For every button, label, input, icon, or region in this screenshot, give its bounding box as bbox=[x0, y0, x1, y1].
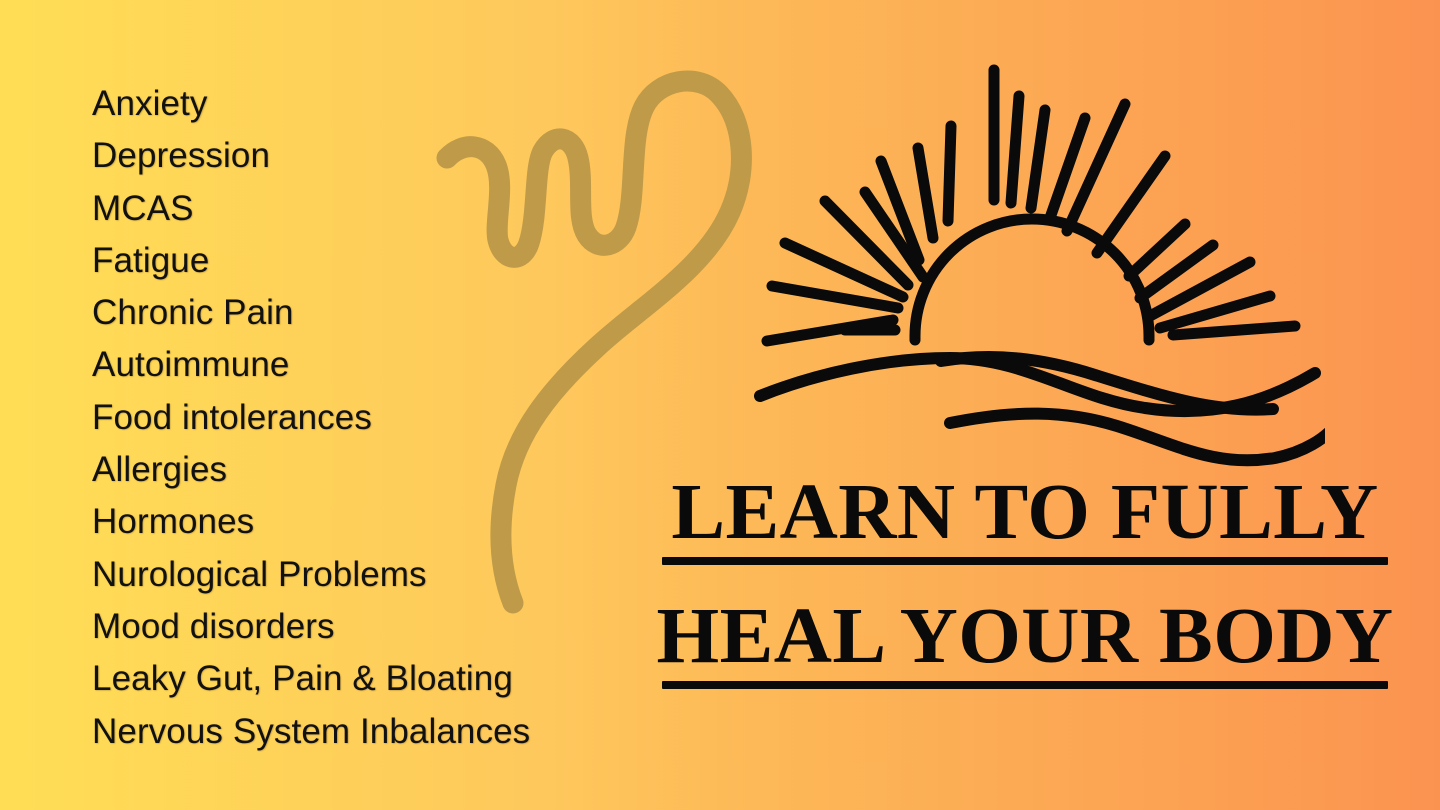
list-item: Chronic Pain bbox=[92, 287, 652, 339]
list-item: Fatigue bbox=[92, 235, 652, 287]
sunrise-over-water-icon bbox=[745, 58, 1325, 478]
list-item: Leaky Gut, Pain & Bloating bbox=[92, 653, 652, 705]
headline-line-1: LEARN TO FULLY bbox=[655, 475, 1396, 551]
headline-underline-2 bbox=[662, 681, 1388, 689]
list-item: Depression bbox=[92, 130, 652, 182]
conditions-list: Anxiety Depression MCAS Fatigue Chronic … bbox=[92, 78, 652, 758]
headline-underline-1 bbox=[662, 557, 1388, 565]
list-item: MCAS bbox=[92, 183, 652, 235]
list-item: Mood disorders bbox=[92, 601, 652, 653]
list-item: Nervous System Inbalances bbox=[92, 706, 652, 758]
list-item: Anxiety bbox=[92, 78, 652, 130]
headline-line-2: HEAL YOUR BODY bbox=[655, 599, 1396, 675]
list-item: Food intolerances bbox=[92, 392, 652, 444]
list-item: Nurological Problems bbox=[92, 549, 652, 601]
promotional-poster: Anxiety Depression MCAS Fatigue Chronic … bbox=[0, 0, 1440, 810]
headline-block: LEARN TO FULLY HEAL YOUR BODY bbox=[662, 475, 1388, 689]
list-item: Allergies bbox=[92, 444, 652, 496]
list-item: Hormones bbox=[92, 496, 652, 548]
list-item: Autoimmune bbox=[92, 339, 652, 391]
